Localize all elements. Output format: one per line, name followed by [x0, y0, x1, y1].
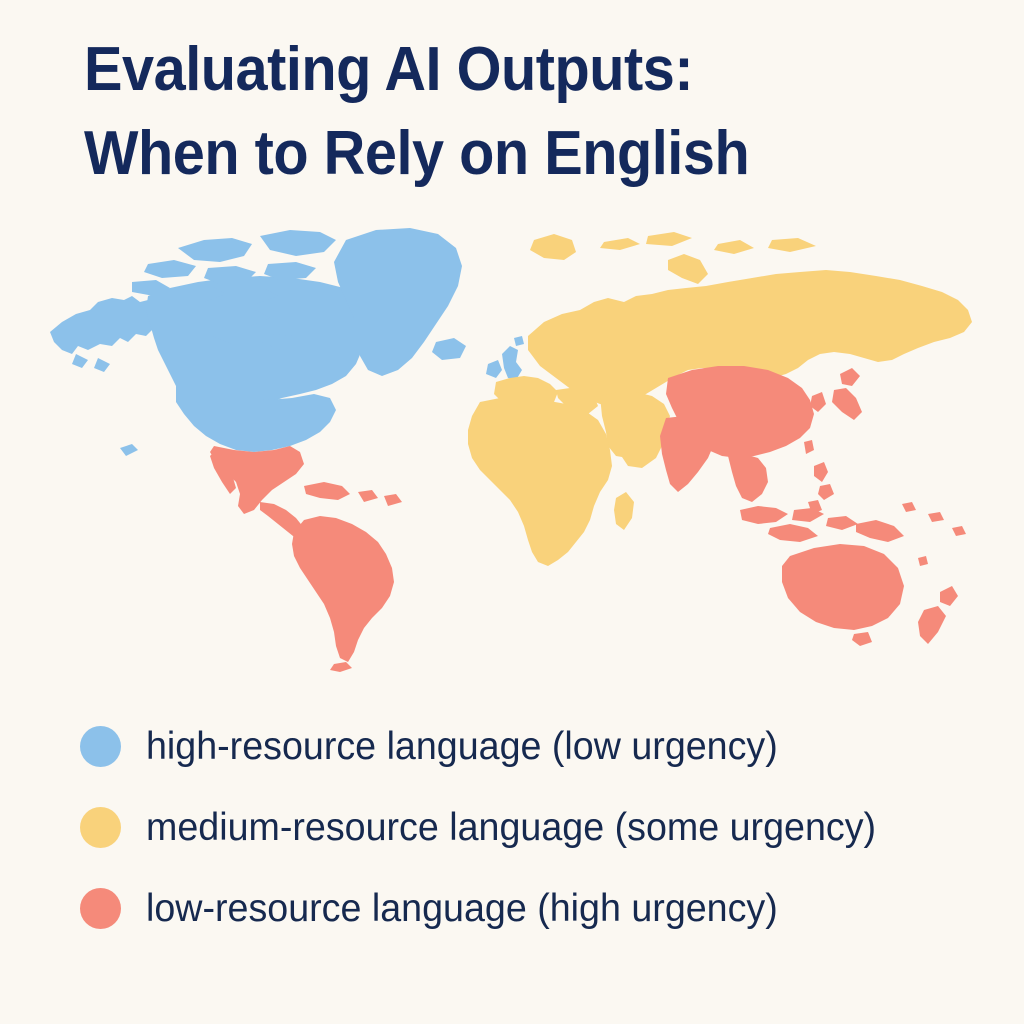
legend-item-low: low-resource language (high urgency): [80, 868, 1010, 949]
infographic-canvas: Evaluating AI Outputs: When to Rely on E…: [0, 0, 1024, 1024]
world-map: [28, 218, 1000, 678]
legend-label-low: low-resource language (high urgency): [146, 888, 778, 930]
title-line-2: When to Rely on English: [84, 112, 902, 196]
map-region-ireland: [486, 360, 502, 378]
legend-item-high: high-resource language (low urgency): [80, 706, 1010, 787]
map-region-papua-new-guinea: [856, 520, 904, 542]
legend-label-high: high-resource language (low urgency): [146, 726, 778, 768]
map-region-tierra-del-fuego: [330, 662, 352, 672]
map-region-arctic-islands: [600, 232, 816, 254]
title-line-1: Evaluating AI Outputs:: [84, 28, 902, 112]
map-region-tasmania: [852, 632, 872, 646]
map-region-pacific-islands: [902, 502, 966, 566]
legend-item-medium: medium-resource language (some urgency): [80, 787, 1010, 868]
map-region-australia: [782, 544, 904, 630]
map-region-indonesia: [740, 506, 858, 542]
map-region-group-high: [50, 228, 524, 456]
map-region-south-america: [292, 516, 394, 662]
map-region-arabia: [618, 422, 664, 468]
legend: high-resource language (low urgency) med…: [80, 706, 1010, 949]
map-region-hawaii: [120, 444, 138, 456]
map-region-new-zealand: [918, 586, 958, 644]
page-title: Evaluating AI Outputs: When to Rely on E…: [84, 28, 964, 196]
map-region-philippines: [808, 462, 834, 514]
map-region-india: [660, 416, 714, 492]
map-region-iceland: [432, 338, 466, 360]
map-region-southeast-asia: [728, 454, 768, 502]
map-region-united-kingdom: [502, 346, 522, 380]
map-region-novaya-zemlya: [668, 254, 708, 284]
map-region-japan: [832, 368, 862, 420]
map-region-scottish-isles: [514, 336, 524, 346]
map-region-taiwan: [804, 440, 814, 454]
legend-swatch-low-icon: [80, 888, 121, 929]
map-region-africa: [468, 398, 612, 566]
legend-label-medium: medium-resource language (some urgency): [146, 807, 876, 849]
world-map-svg: [28, 218, 1000, 678]
map-region-svalbard: [530, 234, 576, 260]
legend-swatch-high-icon: [80, 726, 121, 767]
map-region-madagascar: [614, 492, 634, 530]
legend-swatch-medium-icon: [80, 807, 121, 848]
map-region-caribbean: [304, 482, 402, 506]
